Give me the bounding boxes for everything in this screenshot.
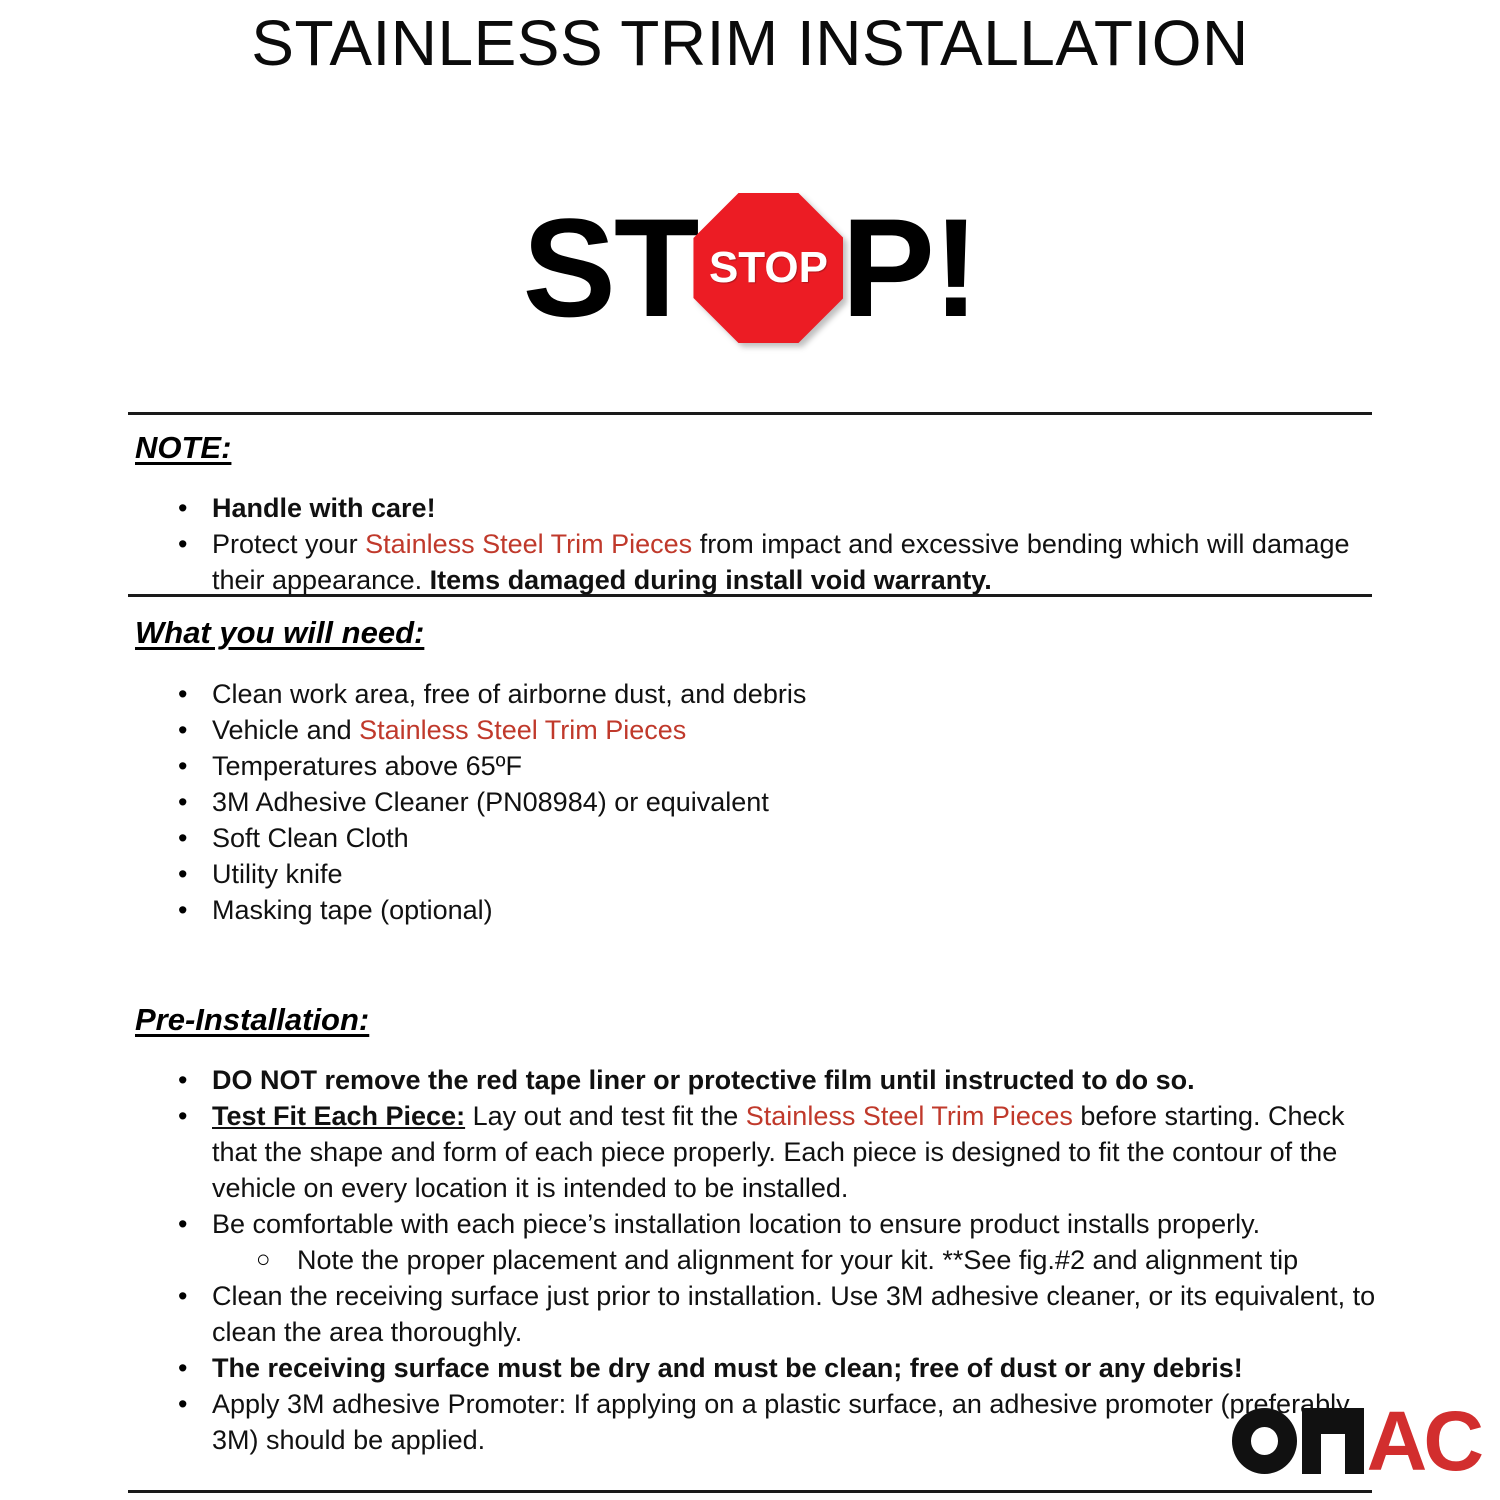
text-run: Note the proper placement and alignment …: [297, 1245, 1298, 1275]
list-item-text: Handle with care!: [212, 493, 436, 523]
list-item: •Be comfortable with each piece’s instal…: [0, 1206, 1500, 1242]
bullet-icon: •: [178, 1278, 198, 1314]
bullet-icon: •: [178, 820, 198, 856]
list-item-text: Apply 3M adhesive Promoter: If applying …: [212, 1389, 1350, 1455]
list-item-text: Be comfortable with each piece’s install…: [212, 1209, 1260, 1239]
bullet-icon: •: [178, 1098, 198, 1134]
text-run: Apply 3M adhesive Promoter: If applying …: [212, 1389, 1350, 1455]
text-run: Handle with care!: [212, 493, 436, 523]
list-item: •Protect your Stainless Steel Trim Piece…: [0, 526, 1500, 598]
list-item-text: Vehicle and Stainless Steel Trim Pieces: [212, 715, 686, 745]
list-item-text: Clean work area, free of airborne dust, …: [212, 679, 806, 709]
text-run: Vehicle and: [212, 715, 359, 745]
text-run: Clean the receiving surface just prior t…: [212, 1281, 1375, 1347]
text-run: Stainless Steel Trim Pieces: [746, 1101, 1073, 1131]
bullet-icon: •: [178, 784, 198, 820]
list-item-text: 3M Adhesive Cleaner (PN08984) or equival…: [212, 787, 769, 817]
text-run: Be comfortable with each piece’s install…: [212, 1209, 1260, 1239]
document-page: STAINLESS TRIM INSTALLATION ST STOP P! N…: [0, 0, 1500, 1500]
stop-logo-right-text: P!: [841, 198, 977, 338]
text-run: Lay out and test fit the: [465, 1101, 746, 1131]
list-item: •Clean the receiving surface just prior …: [0, 1278, 1500, 1350]
omac-letter-m-icon: [1302, 1408, 1362, 1474]
sub-bullet-icon: ○: [256, 1242, 276, 1278]
text-run: 3M Adhesive Cleaner (PN08984) or equival…: [212, 787, 769, 817]
list-item: •3M Adhesive Cleaner (PN08984) or equiva…: [0, 784, 1500, 820]
note-list: •Handle with care!•Protect your Stainles…: [0, 490, 1500, 598]
list-item: •Utility knife: [0, 856, 1500, 892]
heading-what-you-will-need: What you will need:: [135, 615, 424, 651]
omac-letter-o-icon: [1232, 1408, 1297, 1474]
list-item-text: Protect your Stainless Steel Trim Pieces…: [212, 529, 1350, 595]
list-item: •Handle with care!: [0, 490, 1500, 526]
bullet-icon: •: [178, 1350, 198, 1386]
divider-top: [128, 412, 1372, 415]
text-run: Temperatures above 65ºF: [212, 751, 522, 781]
list-item: •The receiving surface must be dry and m…: [0, 1350, 1500, 1386]
omac-logo: AC: [1232, 1402, 1480, 1480]
text-run: Utility knife: [212, 859, 343, 889]
heading-note: NOTE:: [135, 430, 231, 466]
page-title: STAINLESS TRIM INSTALLATION: [0, 8, 1500, 78]
text-run: Protect your: [212, 529, 365, 559]
bullet-icon: •: [178, 490, 198, 526]
list-item-text: Temperatures above 65ºF: [212, 751, 522, 781]
bullet-icon: •: [178, 892, 198, 928]
list-item-text: The receiving surface must be dry and mu…: [212, 1353, 1243, 1383]
text-run: Clean work area, free of airborne dust, …: [212, 679, 806, 709]
stop-logo-left-text: ST: [523, 198, 698, 338]
list-item: •DO NOT remove the red tape liner or pro…: [0, 1062, 1500, 1098]
text-run: The receiving surface must be dry and mu…: [212, 1353, 1243, 1383]
pre-installation-list: •DO NOT remove the red tape liner or pro…: [0, 1062, 1500, 1458]
stop-sign-icon: STOP: [693, 193, 843, 343]
text-run: Soft Clean Cloth: [212, 823, 409, 853]
list-item-text: Test Fit Each Piece: Lay out and test fi…: [212, 1101, 1345, 1203]
stop-sign-label: STOP: [693, 193, 843, 343]
text-run: Stainless Steel Trim Pieces: [359, 715, 686, 745]
bullet-icon: •: [178, 712, 198, 748]
heading-pre-installation: Pre-Installation:: [135, 1002, 369, 1038]
bullet-icon: •: [178, 856, 198, 892]
text-run: Test Fit Each Piece:: [212, 1101, 465, 1131]
bullet-icon: •: [178, 748, 198, 784]
list-item-text: Clean the receiving surface just prior t…: [212, 1281, 1375, 1347]
stop-logo: ST STOP P!: [0, 178, 1500, 358]
text-run: Masking tape (optional): [212, 895, 493, 925]
list-item: •Soft Clean Cloth: [0, 820, 1500, 856]
list-item-text: Note the proper placement and alignment …: [297, 1245, 1298, 1275]
list-item: •Clean work area, free of airborne dust,…: [0, 676, 1500, 712]
bullet-icon: •: [178, 1386, 198, 1422]
bullet-icon: •: [178, 1062, 198, 1098]
what-you-need-list: •Clean work area, free of airborne dust,…: [0, 676, 1500, 928]
list-item-text: Utility knife: [212, 859, 343, 889]
list-item: •Temperatures above 65ºF: [0, 748, 1500, 784]
list-item-text: Masking tape (optional): [212, 895, 493, 925]
list-item: •Vehicle and Stainless Steel Trim Pieces: [0, 712, 1500, 748]
bullet-icon: •: [178, 526, 198, 562]
sub-list-item: ○Note the proper placement and alignment…: [0, 1242, 1500, 1278]
text-run: DO NOT remove the red tape liner or prot…: [212, 1065, 1195, 1095]
divider-bottom: [128, 1490, 1372, 1493]
text-run: Stainless Steel Trim Pieces: [365, 529, 692, 559]
list-item: •Test Fit Each Piece: Lay out and test f…: [0, 1098, 1500, 1206]
list-item-text: DO NOT remove the red tape liner or prot…: [212, 1065, 1195, 1095]
text-run: Items damaged during install void warran…: [430, 565, 992, 595]
list-item: •Masking tape (optional): [0, 892, 1500, 928]
bullet-icon: •: [178, 1206, 198, 1242]
bullet-icon: •: [178, 676, 198, 712]
list-item-text: Soft Clean Cloth: [212, 823, 409, 853]
omac-letters-ac: AC: [1367, 1408, 1480, 1474]
